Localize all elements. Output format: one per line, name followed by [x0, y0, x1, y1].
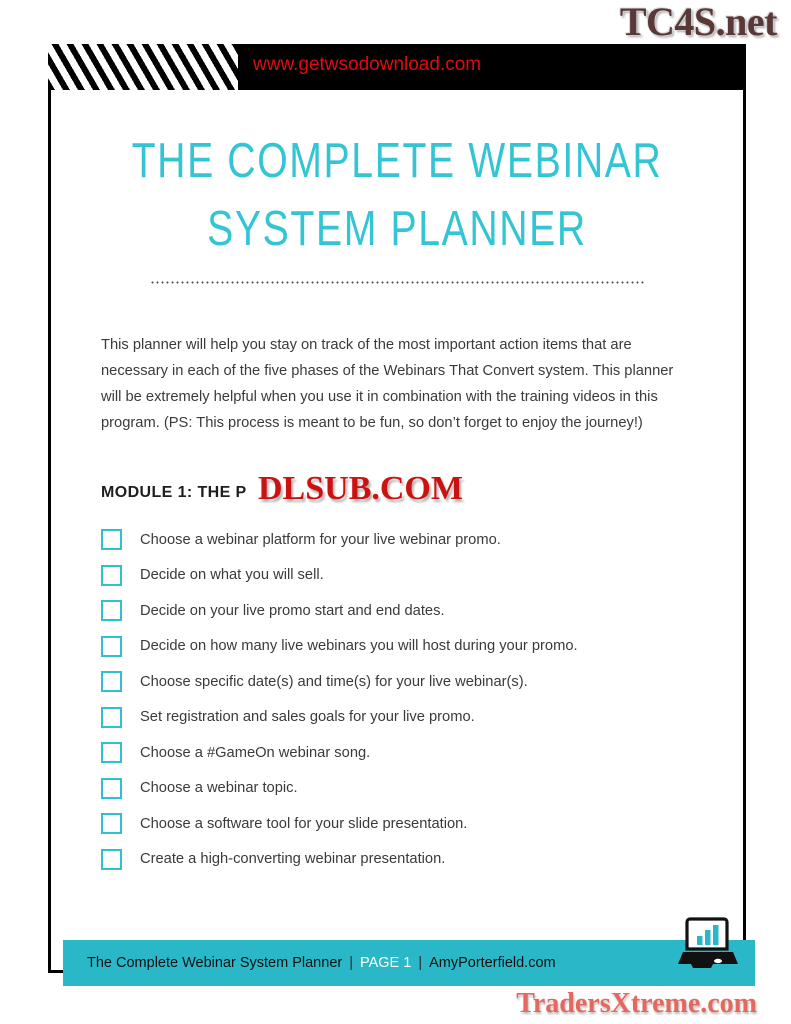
dotted-divider: [150, 281, 645, 284]
footer-website: AmyPorterfield.com: [429, 955, 556, 971]
checkbox-icon[interactable]: [101, 742, 122, 763]
list-item[interactable]: Create a high-converting webinar present…: [101, 842, 743, 878]
checkbox-icon[interactable]: [101, 600, 122, 621]
watermark-dlsub: DLSUB.COM: [258, 470, 463, 508]
checklist-item-label: Set registration and sales goals for you…: [140, 709, 475, 725]
list-item[interactable]: Decide on your live promo start and end …: [101, 593, 743, 629]
checklist-item-label: Decide on your live promo start and end …: [140, 603, 445, 619]
checkbox-icon[interactable]: [101, 813, 122, 834]
list-item[interactable]: Set registration and sales goals for you…: [101, 700, 743, 736]
diagonal-stripes-decoration: [48, 44, 238, 90]
checkbox-icon[interactable]: [101, 529, 122, 550]
watermark-tc4s: TC4S.net: [620, 0, 777, 45]
checklist-item-label: Choose a software tool for your slide pr…: [140, 816, 467, 832]
page-title: THE COMPLETE WEBINAR SYSTEM PLANNER: [51, 127, 743, 284]
intro-paragraph: This planner will help you stay on track…: [101, 332, 691, 436]
checkbox-icon[interactable]: [101, 707, 122, 728]
page-header-band: www.getwsodownload.com: [48, 44, 746, 90]
list-item[interactable]: Choose a webinar platform for your live …: [101, 522, 743, 558]
title-line-2: SYSTEM PLANNER: [120, 195, 674, 263]
checkbox-icon[interactable]: [101, 565, 122, 586]
list-item[interactable]: Choose a software tool for your slide pr…: [101, 806, 743, 842]
watermark-header-url: www.getwsodownload.com: [253, 54, 481, 76]
footer-text: The Complete Webinar System Planner|PAGE…: [87, 955, 556, 971]
list-item[interactable]: Decide on what you will sell.: [101, 558, 743, 594]
page-footer: The Complete Webinar System Planner|PAGE…: [63, 940, 755, 986]
list-item[interactable]: Choose a webinar topic.: [101, 771, 743, 807]
footer-separator-1: |: [349, 955, 353, 971]
checklist-item-label: Choose a webinar platform for your live …: [140, 532, 501, 548]
checklist-item-label: Choose a webinar topic.: [140, 780, 298, 796]
checklist-item-label: Choose specific date(s) and time(s) for …: [140, 674, 528, 690]
watermark-tradersxtreme: TradersXtreme.com: [516, 988, 757, 1020]
checklist-item-label: Create a high-converting webinar present…: [140, 851, 445, 867]
checkbox-icon[interactable]: [101, 849, 122, 870]
footer-page-number: PAGE 1: [360, 955, 411, 971]
laptop-chart-icon: [677, 916, 739, 974]
checkbox-icon[interactable]: [101, 671, 122, 692]
title-line-1: THE COMPLETE WEBINAR: [120, 127, 674, 195]
checklist-item-label: Choose a #GameOn webinar song.: [140, 745, 370, 761]
document-page: www.getwsodownload.com THE COMPLETE WEBI…: [48, 44, 746, 973]
checkbox-icon[interactable]: [101, 636, 122, 657]
footer-doc-name: The Complete Webinar System Planner: [87, 955, 342, 971]
checklist-item-label: Decide on how many live webinars you wil…: [140, 638, 578, 654]
list-item[interactable]: Choose a #GameOn webinar song.: [101, 735, 743, 771]
checklist: Choose a webinar platform for your live …: [101, 522, 743, 877]
module-heading-row: MODULE 1: THE P DLSUB.COM: [101, 476, 743, 510]
list-item[interactable]: Choose specific date(s) and time(s) for …: [101, 664, 743, 700]
checkbox-icon[interactable]: [101, 778, 122, 799]
checklist-item-label: Decide on what you will sell.: [140, 567, 324, 583]
list-item[interactable]: Decide on how many live webinars you wil…: [101, 629, 743, 665]
footer-separator-2: |: [418, 955, 422, 971]
